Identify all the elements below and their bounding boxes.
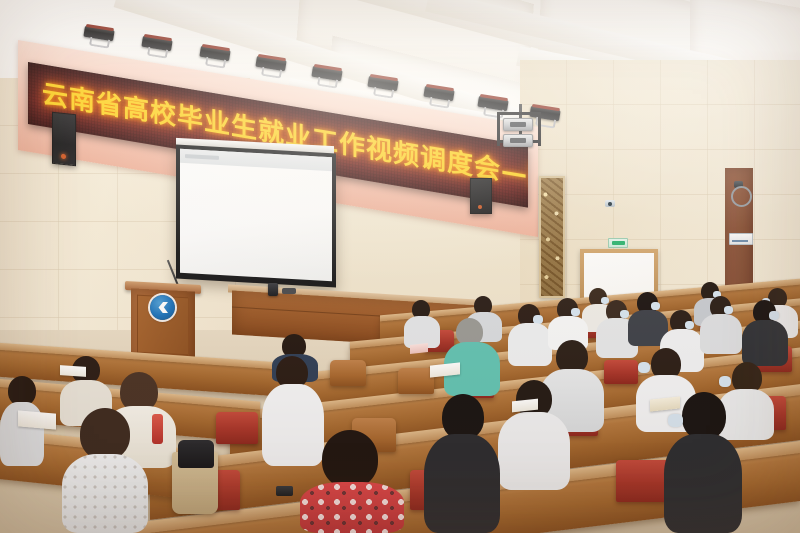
mobile-phone xyxy=(276,486,293,496)
attendee-head xyxy=(322,430,378,488)
attendee-torso xyxy=(700,314,742,354)
attendee-head xyxy=(80,408,130,460)
chair xyxy=(216,412,258,444)
chair xyxy=(604,360,638,384)
attendee-torso xyxy=(508,323,552,366)
attendee-torso xyxy=(718,389,774,440)
camera-rig-bracket xyxy=(538,112,541,146)
face-mask xyxy=(719,376,731,387)
desk-microphone-unit xyxy=(268,283,278,296)
projected-window-chip xyxy=(185,154,219,160)
face-mask xyxy=(668,414,683,427)
camera-rig-bracket xyxy=(497,112,500,146)
attendee-torso xyxy=(62,454,148,533)
name-card xyxy=(410,343,428,354)
chair xyxy=(398,368,434,394)
camera-rig-bracket xyxy=(497,112,541,115)
projection-screen xyxy=(176,145,336,288)
thermos xyxy=(152,414,163,444)
chair xyxy=(330,360,366,386)
wall-speaker xyxy=(470,178,492,214)
notebook xyxy=(18,410,56,429)
attendee-torso xyxy=(424,434,500,533)
projection-screen-surface xyxy=(180,149,332,281)
chair xyxy=(616,460,670,502)
handbag xyxy=(178,440,214,468)
exit-sign-glyph xyxy=(612,241,625,245)
face-mask xyxy=(571,308,580,316)
attendee-torso xyxy=(498,412,570,490)
face-mask xyxy=(651,302,660,310)
sign-plate-text-line xyxy=(732,240,748,242)
conference-camera xyxy=(503,134,533,147)
face-mask xyxy=(620,310,629,318)
desk-control-pad xyxy=(282,288,296,294)
security-camera xyxy=(605,200,615,207)
attendee-torso xyxy=(262,384,324,466)
ornamental-wall-panel xyxy=(539,176,565,298)
emblem-mark xyxy=(157,302,168,313)
face-mask xyxy=(724,306,733,314)
projected-window-titlebar xyxy=(180,149,332,171)
conference-camera xyxy=(503,118,533,131)
document xyxy=(60,365,86,377)
ring-wall-sconce xyxy=(731,186,752,207)
attendee-torso xyxy=(300,482,404,533)
attendee-head xyxy=(682,392,726,440)
attendee-torso xyxy=(742,320,788,366)
wall-sign-plate xyxy=(729,233,753,245)
attendee-torso xyxy=(664,434,742,533)
conference-hall-photo: 云南省高校毕业生就业工作视频调度会—昆明学院分会场 xyxy=(0,0,800,533)
emergency-exit-sign xyxy=(608,238,628,248)
wall-speaker xyxy=(52,112,76,167)
face-mask xyxy=(638,362,650,373)
face-mask xyxy=(769,311,779,320)
face-mask xyxy=(685,321,694,329)
university-emblem-icon xyxy=(150,295,175,320)
